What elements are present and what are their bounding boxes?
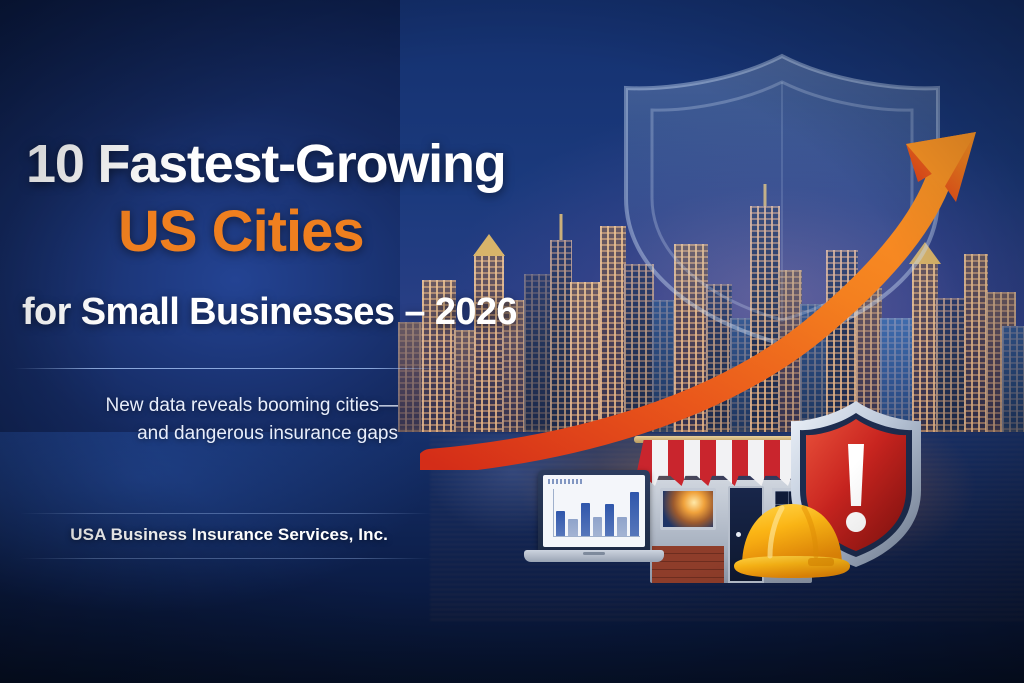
company-name: USA Business Insurance Services, Inc. (0, 525, 388, 545)
chart-bar (630, 492, 639, 536)
divider-top (14, 368, 450, 369)
text-panel: 10 Fastest-Growing US Cities for Small B… (0, 0, 500, 683)
chart-bars (556, 488, 639, 536)
subtitle: New data reveals booming cities— and dan… (0, 392, 398, 447)
chart-bar (617, 517, 626, 536)
chart-bar (581, 503, 590, 536)
hard-hat-icon (730, 492, 854, 584)
chart-bar (605, 504, 614, 536)
shop-display-window (660, 488, 716, 530)
laptop-trackpad (583, 552, 605, 555)
chart-bar (556, 511, 565, 536)
laptop-screen (543, 475, 645, 547)
laptop-base (524, 550, 664, 562)
poster-canvas: 10 Fastest-Growing US Cities for Small B… (0, 0, 1024, 683)
upward-curved-arrow-icon (420, 110, 1024, 470)
chart-title-placeholder (548, 479, 582, 484)
page-title-line3: for Small Businesses – 2026 (22, 291, 517, 334)
chart-bar (568, 519, 577, 536)
page-title-line1: 10 Fastest-Growing (26, 133, 506, 195)
divider-company-bottom (20, 558, 432, 559)
subtitle-line1: New data reveals booming cities— (0, 392, 398, 420)
subtitle-line2: and dangerous insurance gaps (0, 420, 398, 448)
page-title-line2: US Cities (118, 198, 364, 265)
chart-bar (593, 517, 602, 536)
laptop-lid (538, 470, 650, 552)
laptop-chart-icon (524, 470, 664, 578)
divider-company-top (20, 513, 432, 514)
